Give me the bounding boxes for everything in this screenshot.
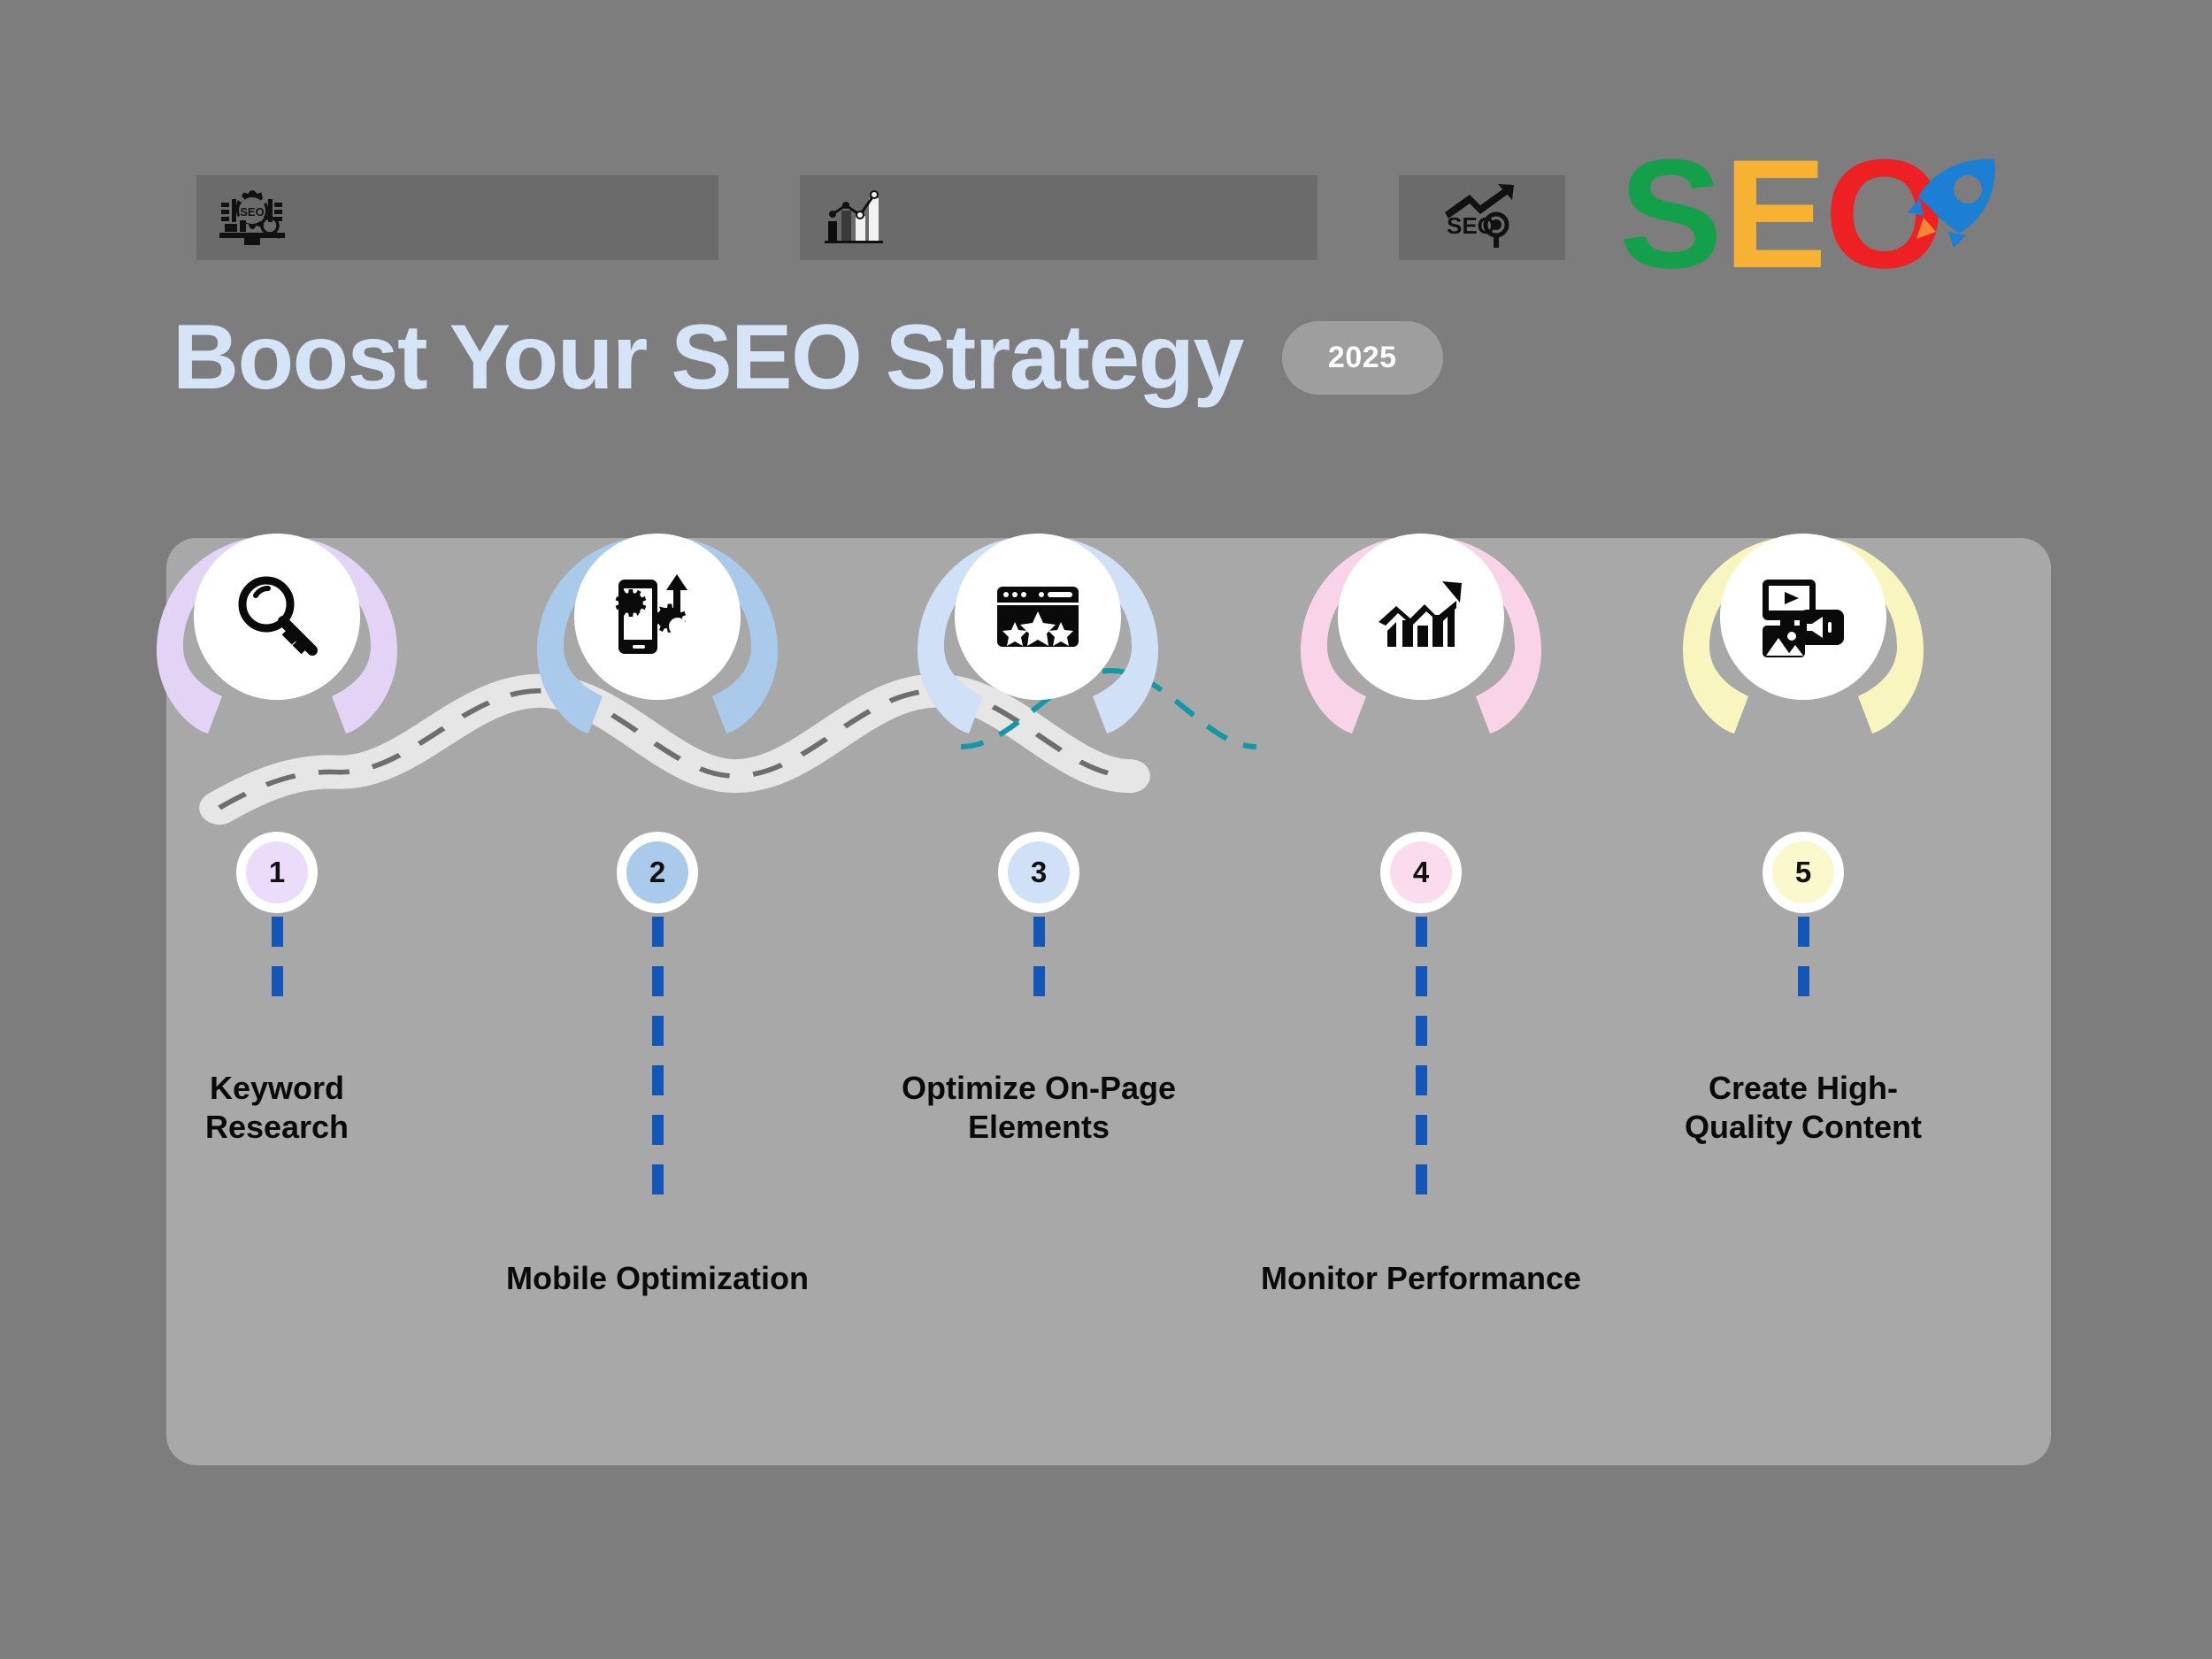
step-marker-4[interactable]: 4 (1380, 832, 1462, 913)
pin-icon-wrap-2 (574, 534, 741, 700)
logo-letter-e: E (1724, 142, 1827, 301)
step-marker-2[interactable]: 2 (617, 832, 698, 913)
pin-icon-wrap-5 (1720, 534, 1886, 700)
seo-monitor-gear-icon: SEO (219, 187, 285, 250)
browser-stars-rating-icon (992, 571, 1084, 663)
magnifying-glass-key-icon (231, 571, 323, 663)
seo-magnifier-arrow-icon: SEO (1440, 182, 1525, 254)
pin-icon-wrap-4 (1338, 534, 1504, 700)
header-badge-strip: SEO (196, 175, 1565, 260)
roadmap-container: 1 2 3 4 5 Keyword Research Mobile Optimi… (166, 538, 2051, 1465)
step-number-5: 5 (1772, 841, 1834, 903)
dropper-line-1 (272, 917, 283, 1016)
step-label-2: Mobile Optimization (506, 1259, 809, 1298)
step-label-5: Create High- Quality Content (1685, 1069, 1922, 1147)
seo-brand-logo: S E O (1619, 142, 2062, 301)
dropper-line-3 (1033, 917, 1045, 1016)
step-pin-3[interactable] (914, 532, 1162, 735)
step-number-2: 2 (626, 841, 688, 903)
header-badge-seo-search: SEO (1399, 175, 1565, 260)
step-label-3: Optimize On-Page Elements (902, 1069, 1176, 1147)
page-title: Boost Your SEO Strategy (173, 311, 1243, 403)
dropper-line-5 (1798, 917, 1809, 1016)
step-pin-4[interactable] (1297, 532, 1545, 735)
step-label-4: Monitor Performance (1261, 1259, 1581, 1298)
logo-letter-o: O (1824, 142, 1945, 301)
header-badge-seo-monitor: SEO (196, 175, 718, 260)
growth-chart-arrow-icon (1375, 571, 1467, 663)
step-number-1: 1 (246, 841, 308, 903)
dropper-line-4 (1416, 917, 1427, 1203)
step-marker-3[interactable]: 3 (998, 832, 1079, 913)
roadmap-card: 1 2 3 4 5 Keyword Research Mobile Optimi… (166, 538, 2051, 1465)
step-marker-5[interactable]: 5 (1763, 832, 1844, 913)
step-pin-5[interactable] (1679, 532, 1927, 735)
step-pin-1[interactable] (153, 532, 401, 735)
bar-chart-trend-icon (823, 186, 885, 250)
header-badge-analytics (800, 175, 1317, 260)
svg-text:SEO: SEO (240, 205, 264, 219)
step-number-4: 4 (1390, 841, 1452, 903)
step-pin-2[interactable] (534, 532, 781, 735)
year-badge: 2025 (1282, 321, 1443, 395)
media-content-megaphone-icon (1757, 571, 1849, 663)
pin-icon-wrap-1 (194, 534, 360, 700)
dropper-line-2 (652, 917, 664, 1203)
mobile-gear-optimize-icon (611, 571, 703, 663)
step-number-3: 3 (1008, 841, 1070, 903)
step-label-1: Keyword Research (205, 1069, 349, 1147)
step-marker-1[interactable]: 1 (236, 832, 318, 913)
headline-row: Boost Your SEO Strategy 2025 (173, 311, 1443, 403)
logo-letter-s: S (1619, 142, 1723, 301)
pin-icon-wrap-3 (955, 534, 1121, 700)
